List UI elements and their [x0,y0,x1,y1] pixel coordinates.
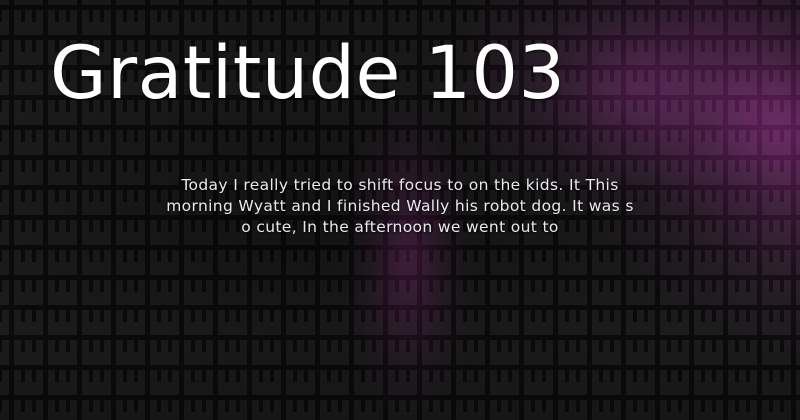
body-line-2: morning Wyatt and I finished Wally his r… [166,197,634,215]
entry-body-text: Today I really tried to shift focus to o… [120,175,680,238]
body-line-1: Today I really tried to shift focus to o… [181,176,618,194]
body-line-3: o cute, In the afternoon we went out to [241,218,559,236]
page-title: Gratitude 103 [50,36,565,113]
card-content: Gratitude 103 Today I really tried to sh… [0,0,800,420]
gratitude-card: Gratitude 103 Today I really tried to sh… [0,0,800,420]
